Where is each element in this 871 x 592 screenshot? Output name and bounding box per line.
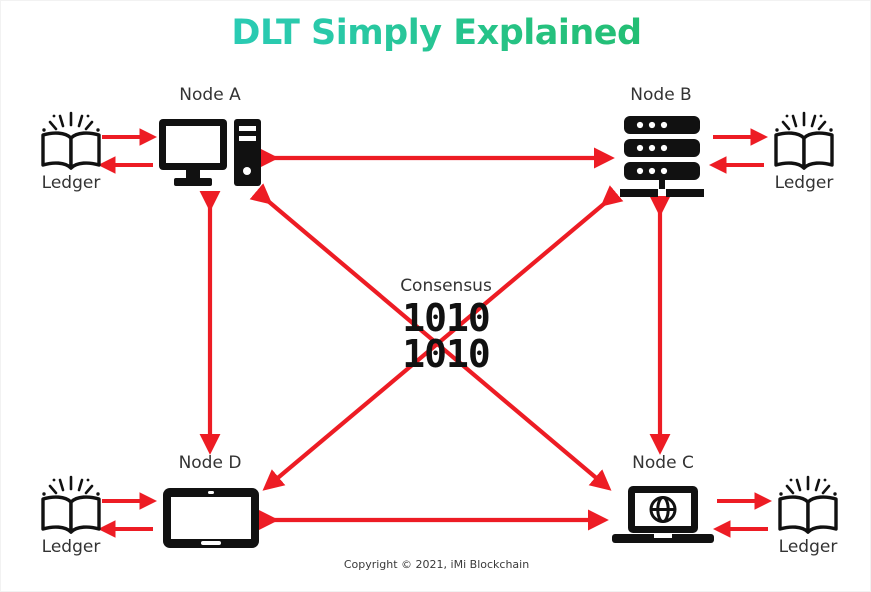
node-d-label: Node D <box>130 453 290 473</box>
node-c[interactable]: Node C <box>583 453 743 553</box>
node-a-label: Node A <box>130 85 290 105</box>
node-b[interactable]: Node B <box>581 85 741 211</box>
copyright-text: Copyright © 2021, iMi Blockchain <box>1 558 871 571</box>
ledger-c[interactable]: Ledger <box>743 475 871 565</box>
open-book-icon <box>772 475 844 541</box>
ledger-a[interactable]: Ledger <box>6 111 136 201</box>
consensus-bits-line-1: 1010 <box>356 300 536 336</box>
tablet-icon <box>161 486 261 554</box>
diagram-canvas: DLT Simply Explained <box>0 0 871 592</box>
node-a[interactable]: Node A <box>130 85 290 205</box>
node-d[interactable]: Node D <box>130 453 290 553</box>
page-title: DLT Simply Explained <box>1 13 871 53</box>
node-b-label: Node B <box>581 85 741 105</box>
node-c-label: Node C <box>583 453 743 473</box>
consensus-label: Consensus <box>356 276 536 296</box>
open-book-icon <box>35 111 107 177</box>
open-book-icon <box>768 111 840 177</box>
ledger-a-label: Ledger <box>1 173 141 193</box>
ledger-d-label: Ledger <box>1 537 141 557</box>
ledger-c-label: Ledger <box>738 537 871 557</box>
consensus-bits-line-2: 1010 <box>356 336 536 372</box>
server-rack-icon <box>618 115 706 201</box>
ledger-b-label: Ledger <box>734 173 871 193</box>
consensus-block: Consensus 1010 1010 <box>356 276 536 386</box>
desktop-computer-icon <box>157 115 263 197</box>
ledger-d[interactable]: Ledger <box>6 475 136 565</box>
ledger-b[interactable]: Ledger <box>739 111 869 201</box>
open-book-icon <box>35 475 107 541</box>
laptop-globe-icon <box>610 484 716 550</box>
